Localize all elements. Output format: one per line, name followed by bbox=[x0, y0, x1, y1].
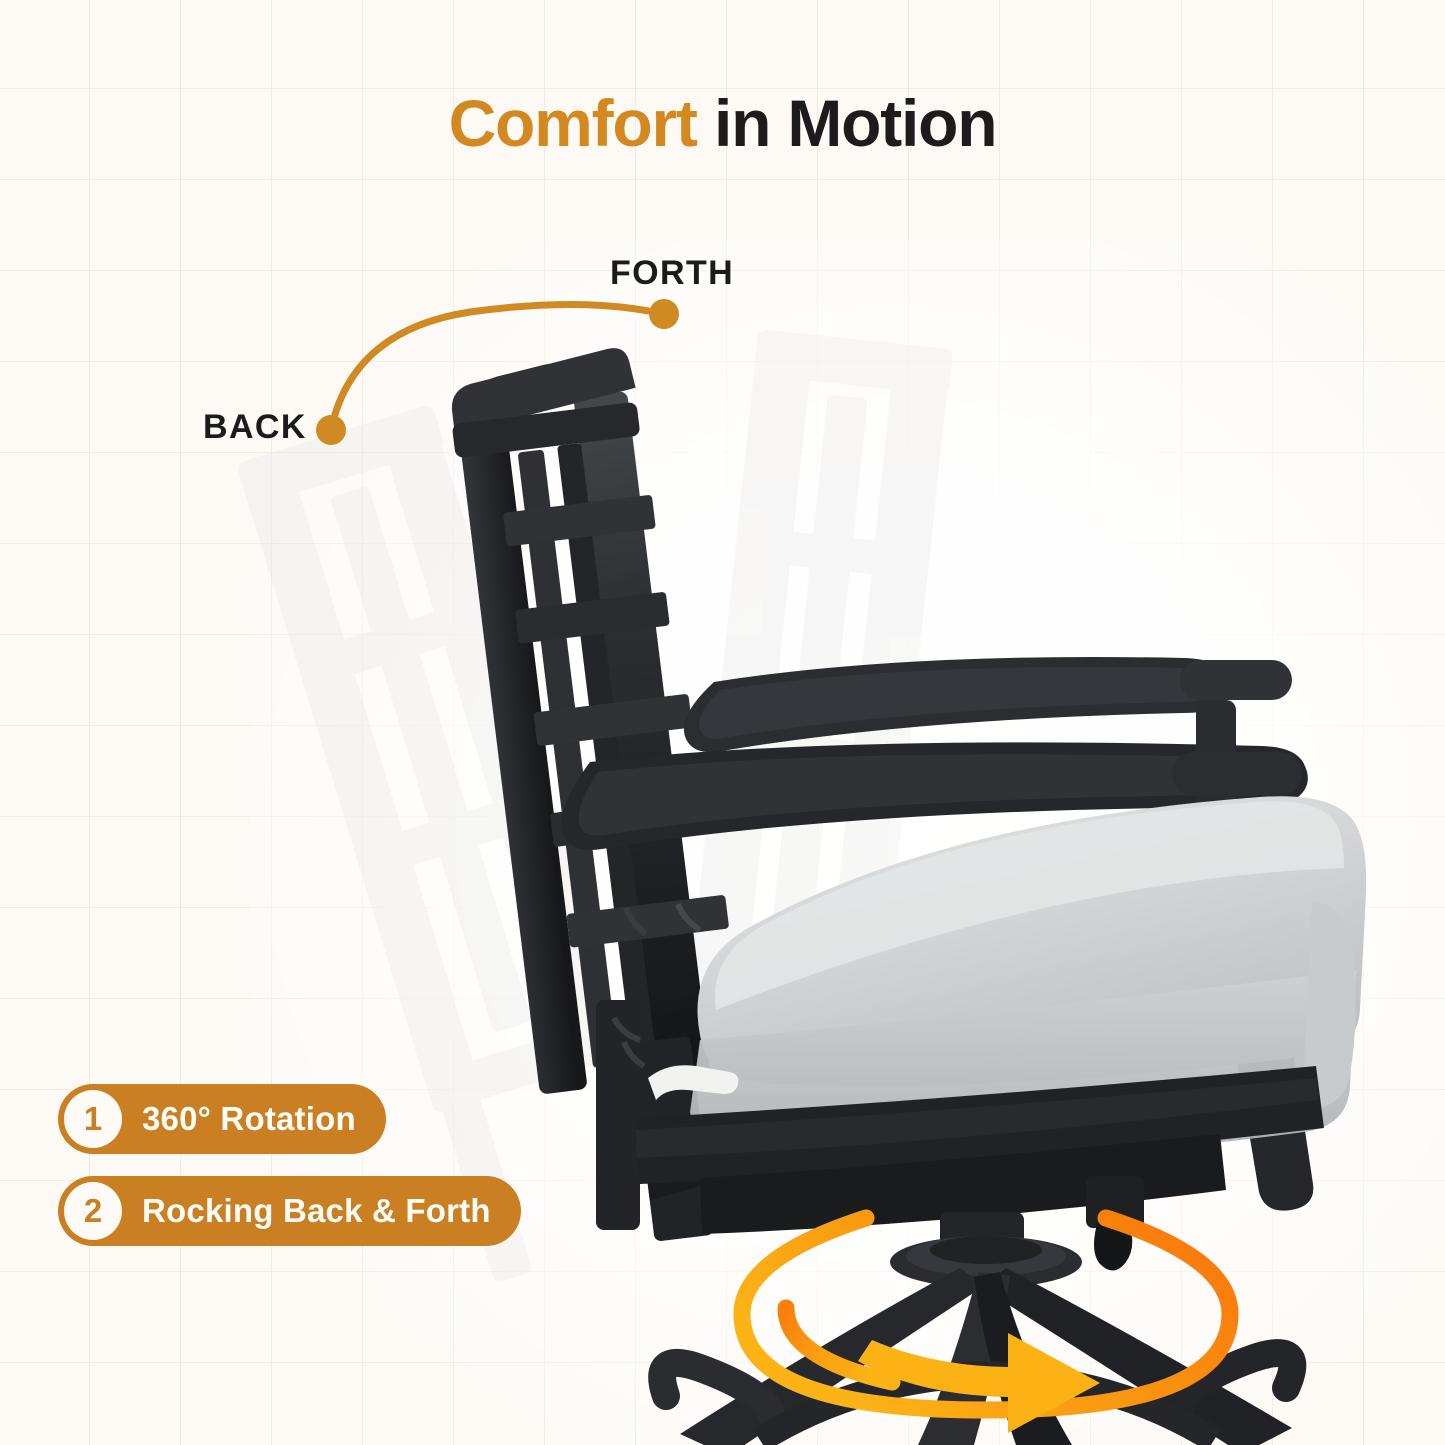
feature-pill-2[interactable]: 2 Rocking Back & Forth bbox=[58, 1176, 521, 1246]
page-title: Comfort in Motion bbox=[0, 90, 1445, 156]
feature-number-badge-2: 2 bbox=[64, 1182, 122, 1240]
feature-label-1: 360° Rotation bbox=[142, 1100, 356, 1138]
page-title-rest: in Motion bbox=[697, 86, 997, 160]
page-title-highlight: Comfort bbox=[449, 86, 697, 160]
annotation-label-back: BACK bbox=[203, 408, 307, 447]
annotation-label-forth: FORTH bbox=[610, 254, 734, 293]
feature-number-badge-1: 1 bbox=[64, 1090, 122, 1148]
product-feature-infographic: Comfort in Motion BACK FORTH 1 360° Rota… bbox=[0, 0, 1445, 1445]
feature-list: 1 360° Rotation 2 Rocking Back & Forth bbox=[58, 1084, 521, 1268]
feature-label-2: Rocking Back & Forth bbox=[142, 1192, 491, 1230]
feature-pill-1[interactable]: 1 360° Rotation bbox=[58, 1084, 386, 1154]
